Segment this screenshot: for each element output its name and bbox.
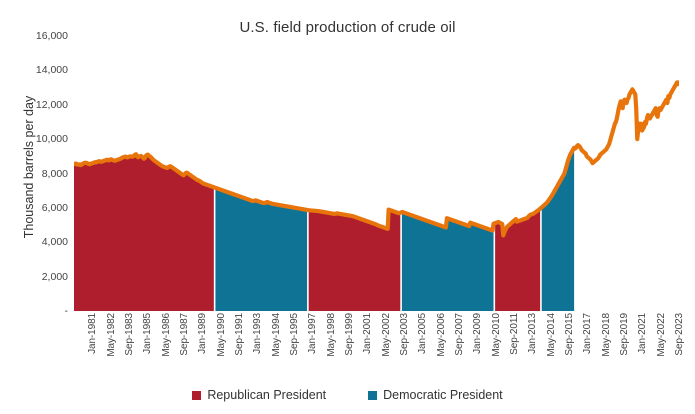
x-axis-tick-label: Sep-2003 — [399, 313, 410, 356]
x-axis-tick-label: Jan-1985 — [142, 313, 153, 354]
y-axis-tick-label: 8,000 — [8, 168, 68, 180]
x-axis-tick-label: Sep-2011 — [509, 313, 520, 355]
x-axis-tick-label: May-2010 — [491, 313, 502, 357]
y-axis-tick-label: - — [8, 305, 68, 317]
x-axis-tick-label: May-2018 — [601, 313, 612, 357]
legend-swatch-democratic — [368, 391, 377, 400]
x-axis-tick-label: May-2006 — [436, 313, 447, 357]
legend-swatch-republican — [192, 391, 201, 400]
x-axis-tick-label: May-2022 — [656, 313, 667, 357]
x-axis-tick-label: Sep-1995 — [289, 313, 300, 356]
x-axis-tick-label: May-1990 — [216, 313, 227, 357]
x-axis-tick-label: Sep-1987 — [179, 313, 190, 356]
x-axis-tick-label: Sep-2015 — [564, 313, 575, 356]
chart-container: U.S. field production of crude oil Thous… — [0, 0, 695, 414]
x-axis-tick-label: Sep-2007 — [454, 313, 465, 356]
y-axis-tick-labels: -2,0004,0006,0008,00010,00012,00014,0001… — [6, 0, 68, 414]
area-chart-svg — [74, 36, 679, 311]
y-axis-tick-label: 4,000 — [8, 236, 68, 248]
x-axis-tick-label: Jan-1981 — [87, 313, 98, 354]
x-axis-tick-label: Sep-2023 — [674, 313, 685, 356]
legend-item-democratic[interactable]: Democratic President — [368, 388, 503, 402]
x-axis-tick-label: Sep-1983 — [124, 313, 135, 356]
x-axis-tick-label: Jan-1997 — [307, 313, 318, 354]
legend-item-republican[interactable]: Republican President — [192, 388, 326, 402]
plot-area — [74, 36, 679, 311]
x-axis-tick-label: Jan-2013 — [527, 313, 538, 354]
y-axis-tick-label: 14,000 — [8, 64, 68, 76]
y-axis-tick-label: 10,000 — [8, 133, 68, 145]
x-axis-tick-label: Jan-1989 — [197, 313, 208, 354]
x-axis-tick-label: May-1986 — [161, 313, 172, 357]
x-axis-tick-label: May-2002 — [381, 313, 392, 357]
x-axis-tick-label: Jan-2009 — [472, 313, 483, 354]
chart-title: U.S. field production of crude oil — [0, 19, 695, 36]
y-axis-tick-label: 12,000 — [8, 99, 68, 111]
chart-legend: Republican President Democratic Presiden… — [0, 388, 695, 402]
x-axis-tick-label: May-2014 — [546, 313, 557, 357]
x-axis-tick-label: Jan-2017 — [582, 313, 593, 354]
y-axis-tick-label: 2,000 — [8, 271, 68, 283]
x-axis-tick-labels: Jan-1981May-1982Sep-1983Jan-1985May-1986… — [74, 313, 679, 379]
legend-label-democratic: Democratic President — [383, 388, 503, 402]
x-axis-tick-label: Sep-1999 — [344, 313, 355, 356]
x-axis-tick-label: May-1994 — [271, 313, 282, 357]
x-axis-tick-label: Sep-2019 — [619, 313, 630, 356]
legend-label-republican: Republican President — [207, 388, 326, 402]
x-axis-tick-label: Jan-2021 — [637, 313, 648, 354]
x-axis-tick-label: May-1982 — [106, 313, 117, 357]
y-axis-tick-label: 16,000 — [8, 30, 68, 42]
y-axis-tick-label: 6,000 — [8, 202, 68, 214]
x-axis-tick-label: Jan-2001 — [362, 313, 373, 354]
x-axis-tick-label: May-1998 — [326, 313, 337, 357]
x-axis-tick-label: Jan-2005 — [417, 313, 428, 354]
x-axis-tick-label: Sep-1991 — [234, 313, 245, 356]
x-axis-tick-label: Jan-1993 — [252, 313, 263, 354]
